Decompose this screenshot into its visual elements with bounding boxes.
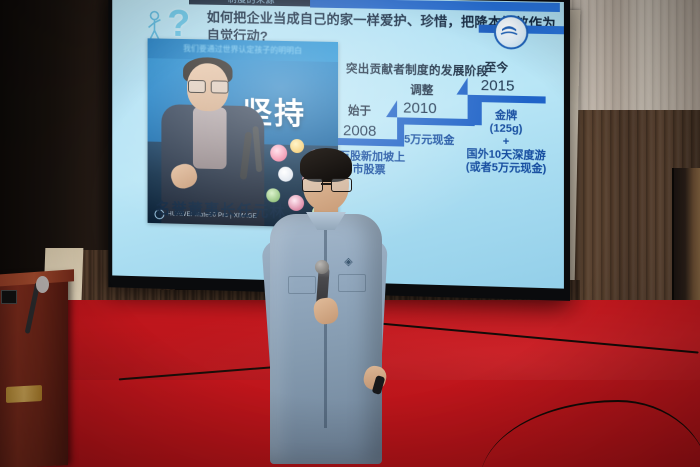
cut-off-banner-text: 制度的来源 <box>189 0 314 7</box>
company-logo-mark <box>500 22 518 38</box>
timeline-stage-2: 调整 <box>410 82 433 99</box>
company-circle-logo <box>494 15 528 50</box>
timeline-reward-2: 5万元现金 <box>393 133 465 148</box>
timeline-year-1: 2008 <box>343 122 376 140</box>
presentation-scene: 制度的来源 ? 如何把企业当成自己的家一样爱护、珍惜，把降本增效作为自觉行动? <box>0 0 700 467</box>
logo-accent-bar-left <box>479 25 493 33</box>
podium-name-plate <box>1 290 17 304</box>
stair-tread-3 <box>475 95 546 104</box>
presenter-uniform-placket <box>324 228 327 428</box>
photo-top-banner: 我们要通过世界认定孩子的明明白 <box>148 38 338 62</box>
stair-arrow-1 <box>386 100 397 117</box>
presenter-uniform-logo: ◈ <box>342 256 355 269</box>
stair-arrow-2 <box>456 77 467 94</box>
photo-speaker-shirt <box>193 107 227 169</box>
presenter-pocket-left <box>288 276 316 294</box>
cut-off-banner: 制度的来源 <box>189 0 314 7</box>
question-mark-icon: ? <box>167 5 190 43</box>
presenter-glasses-bridge <box>321 183 331 185</box>
timeline-stage-1: 始于 <box>348 102 371 119</box>
podium-microphone-head <box>36 276 49 293</box>
photo-speaker-glasses <box>188 80 228 92</box>
presenter-pocket-right <box>338 274 366 292</box>
timeline-reward-3: 金牌 (125g) + 国外10天深度游 (或者5万元现金) <box>463 109 550 176</box>
presenter-microphone-head <box>315 260 329 274</box>
timeline-year-2: 2010 <box>403 99 437 117</box>
door-frame <box>672 168 700 318</box>
timeline-year-3: 2015 <box>481 77 515 95</box>
presenter: ◈ <box>262 148 394 467</box>
timeline-stage-3: 至今 <box>485 59 508 76</box>
presenter-hair <box>300 148 352 182</box>
photo-banner-text: 我们要通过世界认定孩子的明明白 <box>148 38 338 62</box>
podium-gold-emblem <box>6 385 42 403</box>
